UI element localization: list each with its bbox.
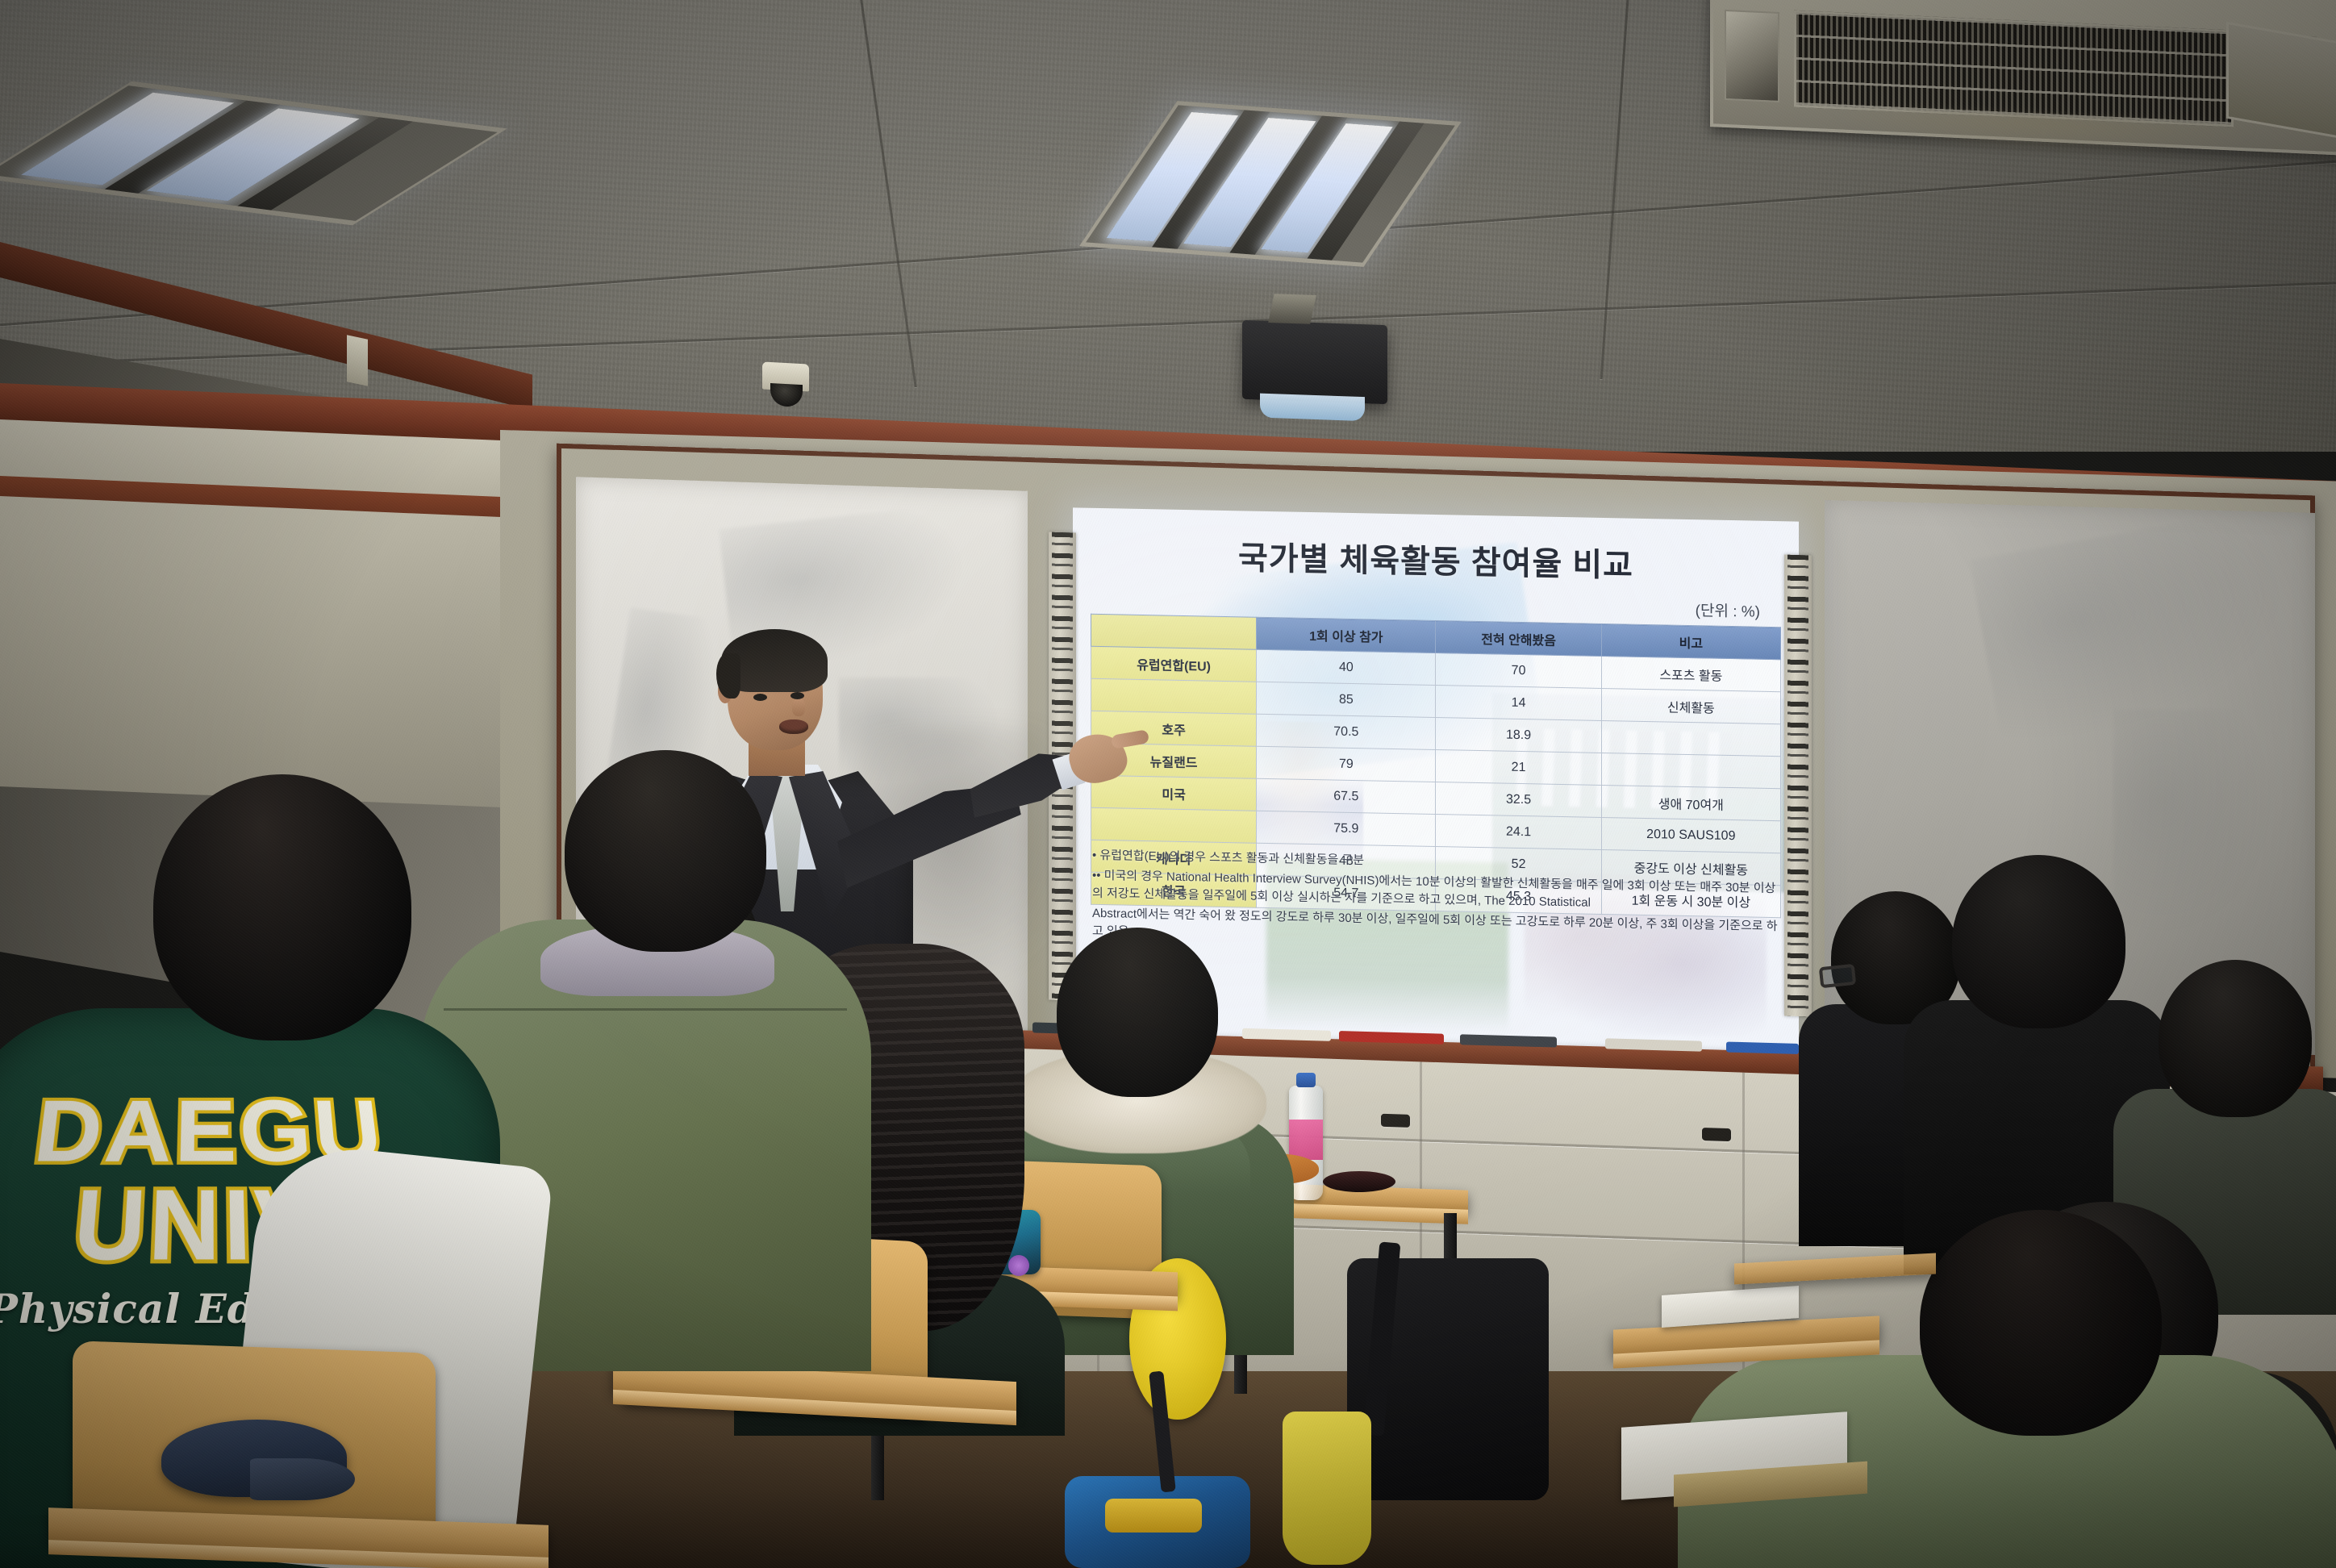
red-marker-icon[interactable] [1339, 1031, 1444, 1045]
wall-sensor-icon [347, 335, 368, 386]
cell-never: 70 [1436, 653, 1601, 688]
cell-never: 21 [1436, 749, 1601, 785]
table-header-never: 전혀 안해봤음 [1436, 620, 1601, 656]
gray-marker-icon[interactable] [1460, 1034, 1557, 1047]
presenter-hair [721, 629, 828, 692]
table-header-participate: 1회 이상 참가 [1257, 617, 1436, 653]
cell-never: 24.1 [1436, 814, 1601, 849]
cell-note: 스포츠 활동 [1601, 656, 1780, 691]
cabinet-handle-icon[interactable] [1702, 1128, 1731, 1141]
cell-never: 18.9 [1436, 717, 1601, 753]
cell-country: 미국 [1091, 775, 1257, 811]
cell-note: 생애 70여개 [1601, 785, 1780, 820]
cell-participate: 70.5 [1257, 714, 1436, 749]
classroom-photo: 국가별 체육활동 참여율 비교 (단위 : %) 1회 이상 참가 전혀 안해봤… [0, 0, 2336, 1568]
yellow-bag-accent [1105, 1499, 1202, 1533]
cell-country [1091, 807, 1257, 843]
cell-participate: 40 [1257, 649, 1436, 685]
table-header-note: 비고 [1601, 623, 1780, 659]
dark-round-item[interactable] [1323, 1171, 1395, 1192]
projector-mount [1268, 294, 1316, 324]
ceiling-projector [1242, 320, 1387, 404]
dome-camera-icon [762, 361, 809, 391]
blue-marker-icon[interactable] [1726, 1041, 1799, 1054]
cell-note: 2010 SAUS109 [1601, 817, 1780, 853]
cell-note: 신체활동 [1601, 688, 1780, 724]
cell-participate: 75.9 [1257, 811, 1436, 846]
projector-lens-icon [1260, 394, 1365, 422]
table-header-country [1091, 614, 1257, 649]
cell-participate: 85 [1257, 682, 1436, 717]
cell-never: 14 [1436, 685, 1601, 720]
cell-note [1601, 753, 1780, 788]
cabinet-handle-icon[interactable] [1381, 1114, 1410, 1128]
yellow-item[interactable] [1283, 1412, 1371, 1565]
cell-participate: 67.5 [1257, 778, 1436, 814]
slide-title: 국가별 체육활동 참여율 비교 [1091, 529, 1781, 589]
cell-country [1091, 678, 1257, 714]
glasses-icon [1819, 964, 1856, 988]
cell-participate: 79 [1257, 746, 1436, 782]
bottle-cap-icon [1296, 1073, 1316, 1087]
presenter-eye [753, 694, 767, 701]
eraser-icon[interactable] [1605, 1038, 1702, 1051]
presenter-nose [792, 699, 805, 716]
ac-louver-icon [1725, 10, 1779, 102]
cell-country: 유럽연합(EU) [1091, 646, 1257, 682]
presenter-eye [790, 692, 804, 699]
cell-note [1601, 720, 1780, 756]
presenter-mouth [779, 719, 808, 734]
navy-cap[interactable] [161, 1420, 347, 1497]
cell-never: 32.5 [1436, 782, 1601, 817]
